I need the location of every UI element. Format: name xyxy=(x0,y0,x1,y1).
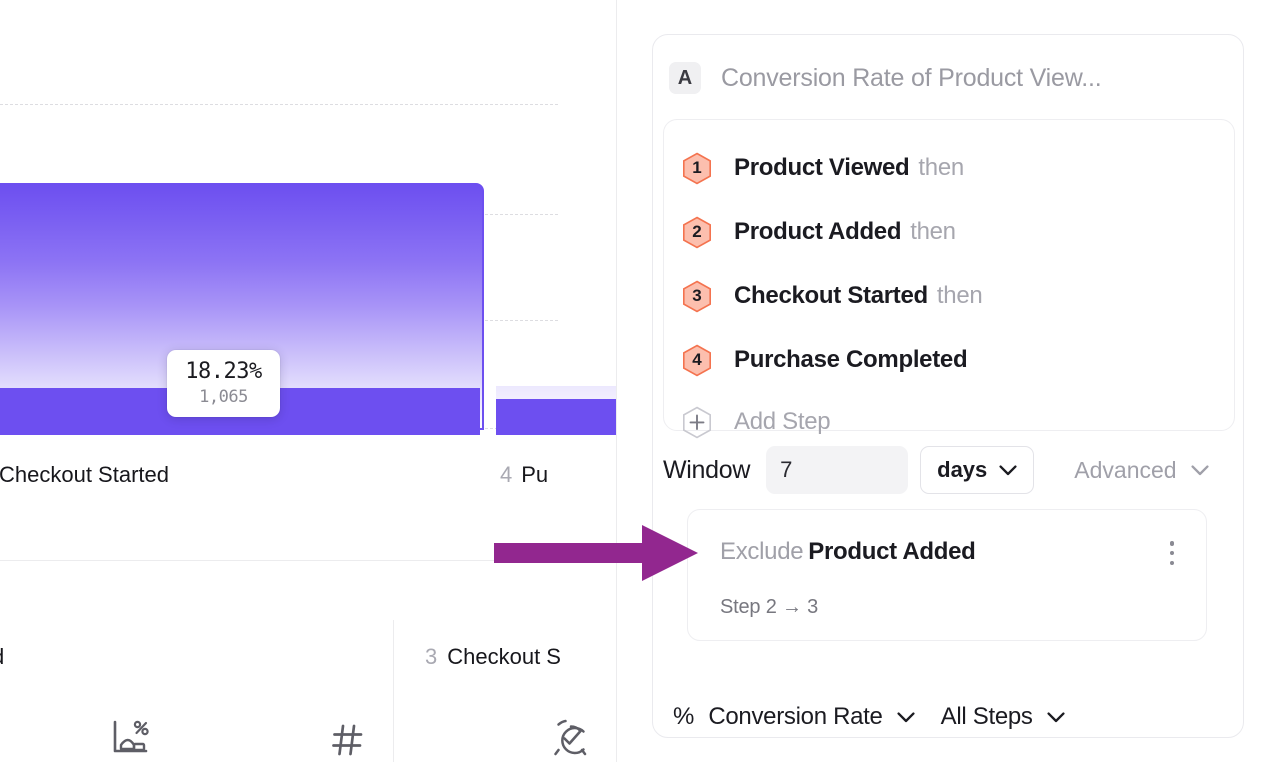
funnel-step-3[interactable]: 3 Checkout Startedthen xyxy=(664,264,1234,328)
x-axis-label-purchase-completed: 4Pu xyxy=(500,462,548,488)
plus-hex-icon xyxy=(682,406,712,439)
chevron-down-icon xyxy=(1191,465,1209,476)
exclusion-prefix: Exclude xyxy=(720,538,803,565)
step-number-hex-icon: 4 xyxy=(682,344,712,377)
window-value-input[interactable]: 7 xyxy=(766,446,908,494)
window-label: Window xyxy=(663,456,750,485)
chevron-down-icon xyxy=(999,465,1017,476)
step-connector: then xyxy=(910,218,956,245)
x-axis-label-text: Checkout Started xyxy=(0,462,169,487)
step-number-hex-icon: 2 xyxy=(682,216,712,249)
exclusion-rule-card[interactable]: ExcludeProduct Added Step 2 → 3 xyxy=(687,509,1207,641)
time-to-convert-icon[interactable] xyxy=(550,718,592,762)
advanced-label: Advanced xyxy=(1074,457,1176,484)
kebab-menu-icon[interactable] xyxy=(1162,538,1182,568)
step-event-label: Purchase Completed xyxy=(734,346,976,374)
step-event-name: Checkout Started xyxy=(734,282,928,309)
gridline xyxy=(0,104,558,105)
series-letter-chip[interactable]: A xyxy=(669,62,701,94)
chevron-down-icon xyxy=(897,712,915,723)
metric-select[interactable]: Conversion Rate xyxy=(708,703,914,731)
funnel-chart-pane: 18.23% 1,065 Checkout Started 4Pu d 3Che… xyxy=(0,0,617,762)
exclusion-event: Product Added xyxy=(808,538,975,565)
x-axis-label-checkout-started: Checkout Started xyxy=(0,462,169,488)
steps-scope-select[interactable]: All Steps xyxy=(941,703,1065,731)
step-event-label: Checkout Startedthen xyxy=(734,282,982,310)
panel-title[interactable]: Conversion Rate of Product View... xyxy=(721,64,1101,93)
x-axis-step-number: 4 xyxy=(500,462,512,487)
funnel-steps-card: 1 Product Viewedthen 2 Product Addedthen xyxy=(663,119,1235,431)
step-number-hex-icon: 3 xyxy=(682,280,712,313)
step-connector: then xyxy=(937,282,983,309)
strip-label-left: d xyxy=(0,644,4,670)
tooltip-percent: 18.23% xyxy=(185,359,261,384)
panel-header: A Conversion Rate of Product View... xyxy=(653,35,1243,121)
funnel-step-4[interactable]: 4 Purchase Completed xyxy=(664,328,1234,392)
x-axis-label-text: Pu xyxy=(521,462,548,487)
chart-tooltip: 18.23% 1,065 xyxy=(167,350,280,417)
window-unit-value: days xyxy=(937,457,987,483)
step-event-name: Product Added xyxy=(734,218,901,245)
funnel-step-1[interactable]: 1 Product Viewedthen xyxy=(664,136,1234,200)
chevron-down-icon xyxy=(1047,712,1065,723)
exclusion-title: ExcludeProduct Added xyxy=(720,538,976,566)
step-number: 1 xyxy=(692,158,701,178)
strip-step-number: 3 xyxy=(425,644,437,669)
step-event-label: Product Viewedthen xyxy=(734,154,964,182)
window-unit-select[interactable]: days xyxy=(920,446,1034,494)
metric-value: Conversion Rate xyxy=(708,703,882,731)
vertical-pane-divider xyxy=(616,0,617,762)
scope-value: All Steps xyxy=(941,703,1033,731)
step-number: 3 xyxy=(692,286,701,306)
step-number: 4 xyxy=(692,350,701,370)
hash-count-icon[interactable] xyxy=(330,722,366,762)
exclusion-step-range: Step 2 → 3 xyxy=(720,596,818,619)
step-connector: then xyxy=(918,154,964,181)
percent-bar-chart-icon[interactable] xyxy=(108,718,152,762)
advanced-toggle[interactable]: Advanced xyxy=(1074,457,1208,484)
funnel-bar-base-purchase-completed[interactable] xyxy=(496,399,617,435)
tooltip-count: 1,065 xyxy=(199,386,248,408)
step-number: 2 xyxy=(692,222,701,242)
callout-arrow xyxy=(492,520,708,590)
funnel-step-2[interactable]: 2 Product Addedthen xyxy=(664,200,1234,264)
add-step-label: Add Step xyxy=(734,408,830,436)
step-event-name: Product Viewed xyxy=(734,154,909,181)
step-number-hex-icon: 1 xyxy=(682,152,712,185)
metric-controls-row: % Conversion Rate All Steps xyxy=(673,693,1065,741)
strip-label-checkout-started: 3Checkout S xyxy=(425,644,561,670)
funnel-config-panel: A Conversion Rate of Product View... 1 P… xyxy=(652,34,1244,738)
percent-icon: % xyxy=(673,703,694,731)
conversion-window-row: Window 7 days Advanced xyxy=(663,443,1209,497)
step-event-label: Product Addedthen xyxy=(734,218,956,246)
strip-label-text: Checkout S xyxy=(447,644,561,669)
step-event-name: Purchase Completed xyxy=(734,346,967,373)
strip-label-left-text: d xyxy=(0,644,4,669)
strip-divider xyxy=(393,620,394,762)
